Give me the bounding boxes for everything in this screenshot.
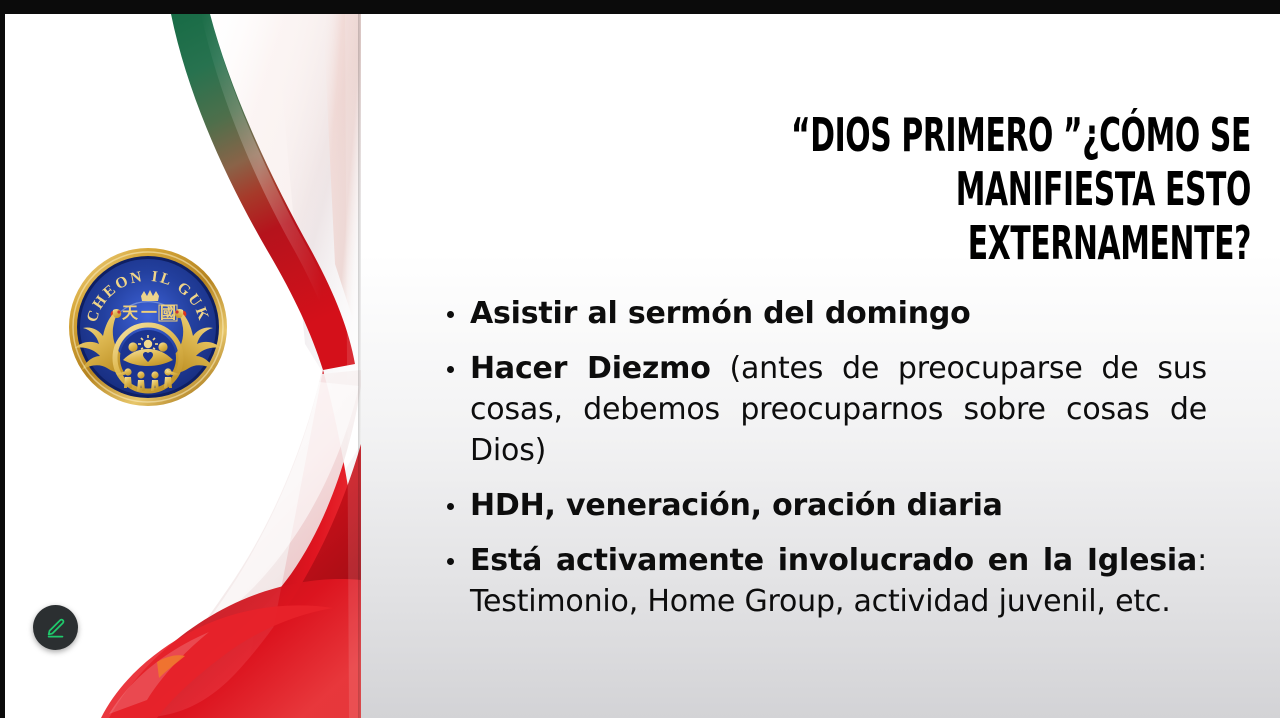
bullet-dot-icon bbox=[447, 311, 454, 318]
bullet-item-4: Está activamente involucrado en la Igles… bbox=[441, 540, 1207, 622]
slide-bullet-list: Asistir al sermón del domingo Hacer Diez… bbox=[441, 293, 1207, 622]
bullet-2-bold-text: Hacer Diezmo bbox=[470, 351, 711, 386]
pencil-edit-icon bbox=[45, 617, 67, 639]
slide-left-decoration-panel: CHEON IL GUK 天 一 國 bbox=[5, 14, 361, 718]
bullet-item-3: HDH, veneración, oración diaria bbox=[441, 485, 1207, 526]
slide-title-line-1: “DIOS PRIMERO ”¿CÓMO SE bbox=[682, 108, 1251, 162]
bullet-item-1: Asistir al sermón del domingo bbox=[441, 293, 1207, 334]
svg-text:一: 一 bbox=[141, 303, 157, 322]
slide-canvas[interactable]: CHEON IL GUK 天 一 國 bbox=[5, 14, 1280, 718]
slide-content-area: “DIOS PRIMERO ”¿CÓMO SE MANIFIESTA ESTO … bbox=[361, 14, 1280, 718]
bullet-4-bold-text: Está activamente involucrado en la Igles… bbox=[470, 543, 1197, 578]
bullet-dot-icon bbox=[447, 366, 454, 373]
viewer-top-chrome-bar bbox=[0, 0, 1280, 14]
bullet-dot-icon bbox=[447, 558, 454, 565]
presentation-viewer: CHEON IL GUK 天 一 國 bbox=[0, 0, 1280, 718]
edit-slide-button[interactable] bbox=[33, 605, 78, 650]
svg-text:國: 國 bbox=[160, 303, 176, 322]
emblem-seal-icon: CHEON IL GUK 天 一 國 bbox=[69, 248, 227, 406]
bullet-item-2: Hacer Diezmo (antes de preocuparse de su… bbox=[441, 348, 1207, 471]
bullet-1-bold-text: Asistir al sermón del domingo bbox=[470, 296, 971, 331]
bullet-dot-icon bbox=[447, 503, 454, 510]
slide-title-line-2: MANIFIESTA ESTO EXTERNAMENTE? bbox=[682, 162, 1251, 270]
slide-title: “DIOS PRIMERO ”¿CÓMO SE MANIFIESTA ESTO … bbox=[682, 108, 1251, 270]
cheon-il-guk-emblem: CHEON IL GUK 天 一 國 bbox=[69, 248, 227, 406]
svg-text:天: 天 bbox=[122, 303, 139, 322]
bullet-3-bold-text: HDH, veneración, oración diaria bbox=[470, 488, 1003, 523]
